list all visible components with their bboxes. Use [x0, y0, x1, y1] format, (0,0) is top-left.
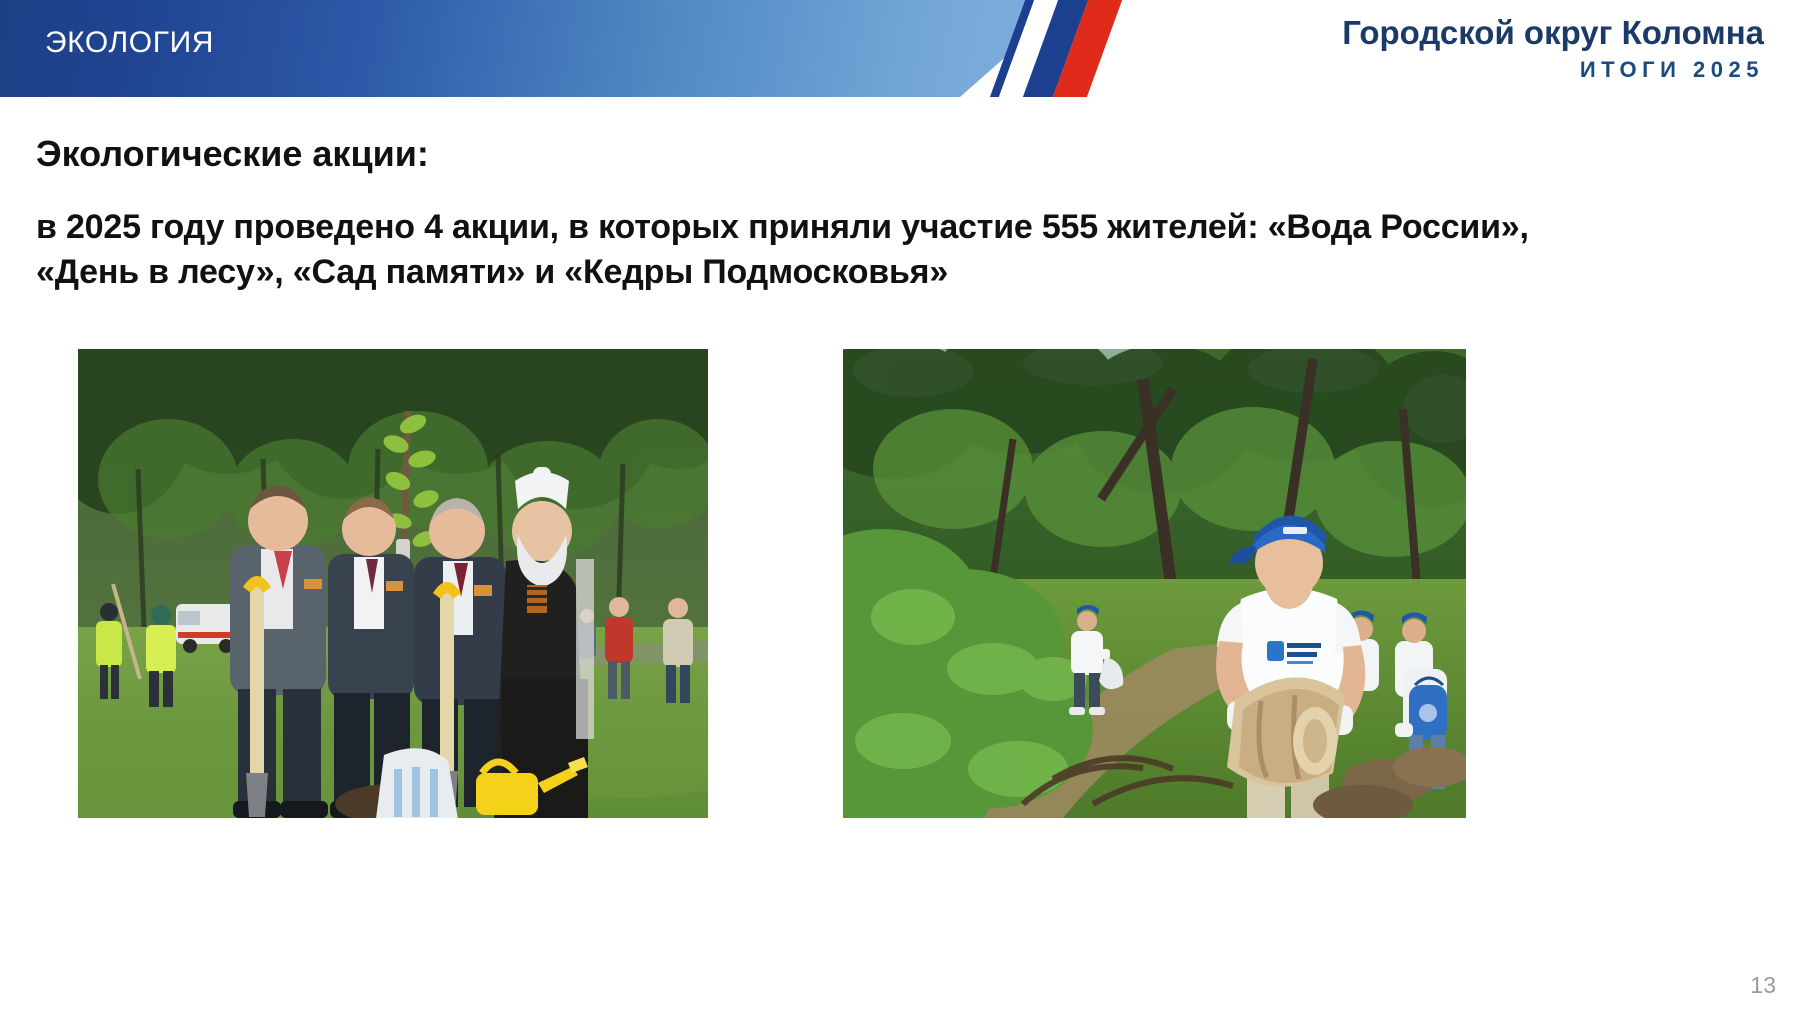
slide-header: ЭКОЛОГИЯ Городской округ Коломна ИТОГИ 2… [0, 0, 1800, 97]
page-number: 13 [1750, 972, 1776, 999]
slide: ЭКОЛОГИЯ Городской округ Коломна ИТОГИ 2… [0, 0, 1800, 1013]
brand-block: Городской округ Коломна ИТОГИ 2025 [1342, 14, 1764, 83]
volunteers-cleanup-illustration [843, 349, 1466, 818]
brand-subtitle: ИТОГИ 2025 [1342, 57, 1764, 83]
body-paragraph: в 2025 году проведено 4 акции, в которых… [36, 205, 1566, 295]
tree-planting-ceremony-photo [78, 349, 708, 818]
lead-heading: Экологические акции: [36, 133, 429, 175]
tree-planting-illustration [78, 349, 708, 818]
section-title: ЭКОЛОГИЯ [45, 26, 214, 60]
brand-title: Городской округ Коломна [1342, 14, 1764, 52]
volunteers-cleanup-photo [843, 349, 1466, 818]
